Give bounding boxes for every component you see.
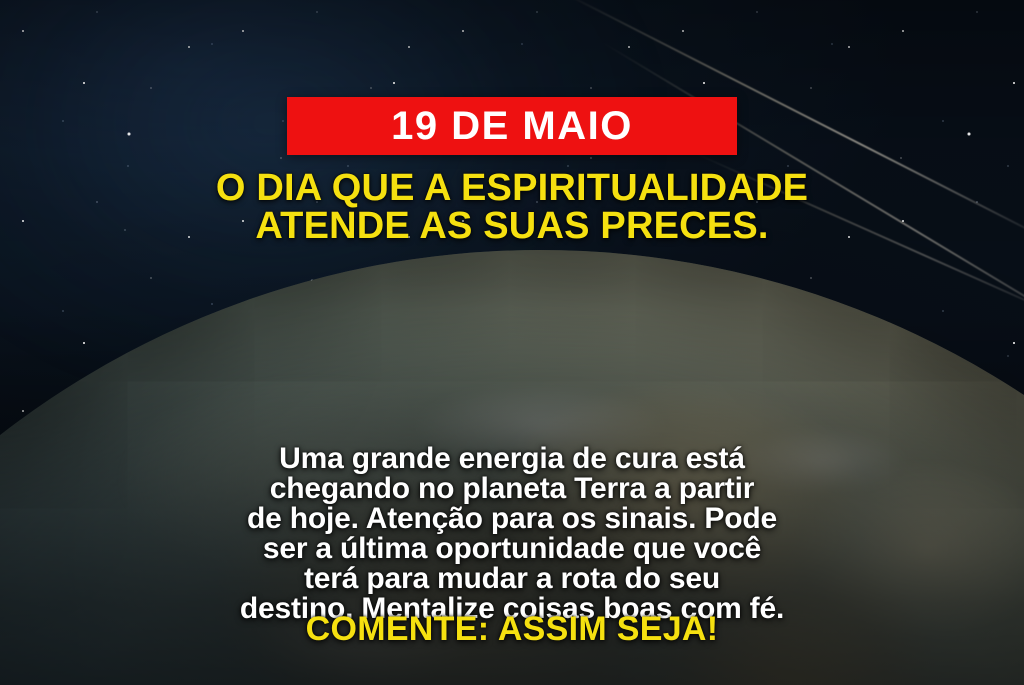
poster-content: 19 DE MAIO O DIA QUE A ESPIRITUALIDADE A… (0, 0, 1024, 685)
body-line-1: Uma grande energia de cura está (72, 444, 952, 474)
body-line-2: chegando no planeta Terra a partir (72, 474, 952, 504)
headline: O DIA QUE A ESPIRITUALIDADE ATENDE AS SU… (42, 169, 982, 245)
date-banner-label: 19 DE MAIO (391, 106, 633, 146)
call-to-action-text: COMENTE: ASSIM SEJA! (62, 612, 962, 646)
headline-line-1: O DIA QUE A ESPIRITUALIDADE (42, 169, 982, 207)
body-line-5: terá para mudar a rota do seu (72, 564, 952, 594)
body-line-4: ser a última oportunidade que você (72, 534, 952, 564)
poster-image: 19 DE MAIO O DIA QUE A ESPIRITUALIDADE A… (0, 0, 1024, 685)
headline-line-2: ATENDE AS SUAS PRECES. (42, 207, 982, 245)
body-paragraph: Uma grande energia de cura está chegando… (72, 444, 952, 624)
body-line-3: de hoje. Atenção para os sinais. Pode (72, 504, 952, 534)
date-banner: 19 DE MAIO (287, 97, 737, 155)
